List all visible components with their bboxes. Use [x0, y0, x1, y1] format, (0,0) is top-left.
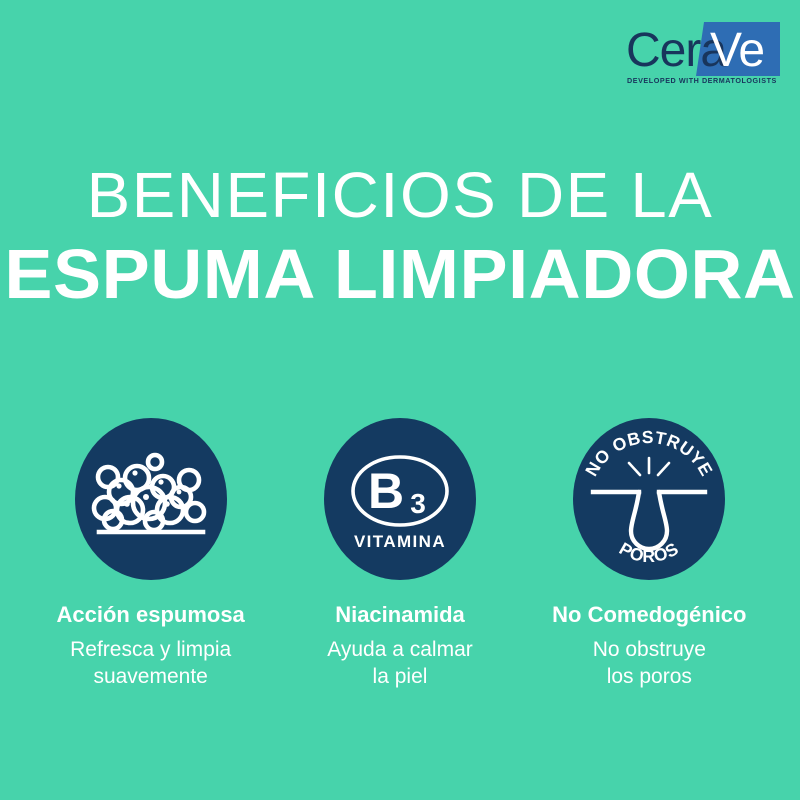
page-title: BENEFICIOS DE LA ESPUMA LIMPIADORA: [0, 163, 800, 309]
logo-tagline: DEVELOPED WITH DERMATOLOGISTS: [627, 76, 777, 85]
benefit-description-line-1: Refresca y limpia: [70, 638, 231, 661]
benefit-item-niacinamide: B 3 VITAMINA Niacinamida Ayuda a calmar …: [275, 418, 524, 691]
benefit-description-line-1: No obstruye: [593, 638, 706, 661]
headline-line-1: BENEFICIOS DE LA: [0, 163, 800, 227]
benefit-description-line-1: Ayuda a calmar: [327, 638, 473, 661]
benefit-description: No obstruye los poros: [593, 637, 706, 691]
benefit-item-non-comedogenic: NO OBSTRUYE POROS No Comedogénico: [525, 418, 774, 691]
benefit-title: No Comedogénico: [552, 602, 746, 627]
logo-wordmark-ve: Ve: [710, 24, 764, 77]
promo-poster: Cera Ve DEVELOPED WITH DERMATOLOGISTS BE…: [0, 0, 800, 800]
benefits-row: Acción espumosa Refresca y limpia suavem…: [0, 418, 800, 691]
b3-caption: VITAMINA: [354, 532, 446, 551]
benefit-item-foam: Acción espumosa Refresca y limpia suavem…: [26, 418, 275, 691]
benefit-description: Refresca y limpia suavemente: [70, 637, 231, 691]
benefit-description-line-2: suavemente: [70, 664, 231, 691]
b3-subscript: 3: [410, 488, 426, 519]
non-comedogenic-pore-icon: NO OBSTRUYE POROS: [573, 418, 725, 580]
cerave-logo: Cera Ve DEVELOPED WITH DERMATOLOGISTS: [618, 18, 788, 88]
benefit-description: Ayuda a calmar la piel: [327, 637, 473, 691]
benefit-description-line-2: los poros: [593, 664, 706, 691]
b3-letter: B: [368, 463, 404, 519]
vitamin-b3-icon: B 3 VITAMINA: [324, 418, 476, 580]
foam-bubbles-icon: [75, 418, 227, 580]
pore-droplet: [631, 492, 667, 549]
benefit-title: Niacinamida: [335, 602, 465, 627]
arc-label-bottom: POROS: [616, 538, 682, 566]
benefit-description-line-2: la piel: [327, 664, 473, 691]
benefit-title: Acción espumosa: [57, 602, 245, 627]
headline-line-2: ESPUMA LIMPIADORA: [0, 239, 800, 309]
sparkle-lines: [629, 458, 669, 475]
